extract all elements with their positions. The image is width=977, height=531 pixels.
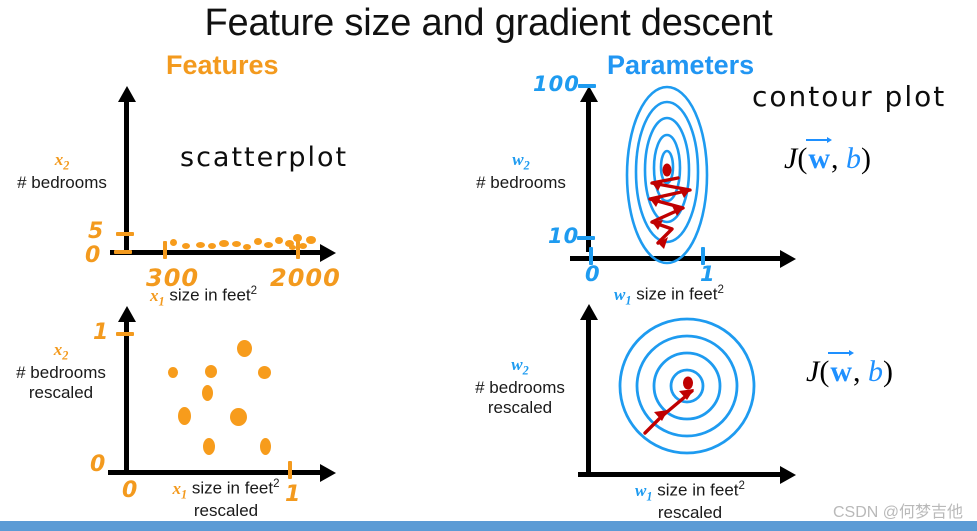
y-axis-label-text: # bedrooms	[476, 173, 566, 192]
contour-ring	[654, 353, 720, 419]
y-axis-line	[124, 100, 129, 252]
scatter-dot	[182, 243, 190, 249]
x-axis-label-text: size in feet	[657, 481, 738, 500]
cost-open-paren: (	[797, 142, 807, 175]
gradient-descent-path-zigzag	[650, 178, 690, 243]
gradient-descent-arrowheads-zigzag	[650, 181, 690, 249]
scatter-dot	[237, 340, 252, 357]
x-axis-variable: w1	[614, 285, 631, 304]
cost-function-label-bottom: J(w, b)	[806, 355, 893, 389]
scatter-dot	[275, 237, 283, 244]
contour-rings-elongated	[627, 87, 707, 263]
scatter-dot	[260, 438, 271, 455]
y-tick-5	[116, 232, 134, 236]
x-axis-arrowhead-icon	[780, 250, 796, 268]
x-axis-line	[570, 256, 782, 261]
x-axis-label-text: size in feet	[192, 479, 273, 498]
cost-comma: ,	[853, 355, 868, 388]
slide-canvas: Feature size and gradient descent Featur…	[0, 0, 977, 531]
y-axis-line	[586, 318, 591, 476]
heading-parameters: Parameters	[607, 50, 754, 81]
contour-ring	[671, 370, 703, 402]
descent-arrow-segment	[645, 412, 666, 433]
y-tick-label-10: 10	[548, 224, 579, 248]
cost-function-label-top: J(w, b)	[784, 142, 871, 176]
scatter-dot	[258, 366, 271, 379]
path-arrowhead	[672, 206, 683, 216]
y-tick-label-5: 5	[88, 219, 104, 244]
y-axis-label-text2: rescaled	[29, 383, 93, 402]
y-axis-variable: x2	[54, 340, 69, 359]
scatter-dot	[219, 240, 229, 247]
heading-features: Features	[166, 50, 279, 81]
y-axis-label-text: # bedrooms	[17, 173, 107, 192]
scatter-dot	[196, 242, 205, 248]
cost-b-symbol: b	[846, 142, 861, 175]
annotation-contour-plot: contour plot	[752, 80, 946, 113]
scatter-dot	[264, 242, 273, 248]
cost-w-vector: w	[807, 142, 831, 176]
y-axis-label: x2 # bedrooms rescaled	[4, 340, 118, 403]
footer-bar	[0, 521, 977, 531]
minimum-marker-elongated	[663, 164, 672, 177]
contour-ring	[627, 87, 707, 263]
y-axis-arrowhead-icon	[580, 304, 598, 320]
watermark: CSDN @何梦吉他	[833, 498, 963, 522]
scatter-dot	[299, 243, 307, 249]
x-axis-arrowhead-icon	[320, 464, 336, 482]
path-arrowhead	[650, 197, 661, 207]
x-axis-label: x1 size in feet2	[150, 285, 257, 308]
annotation-scatterplot: scatterplot	[180, 142, 348, 173]
y-tick-10	[577, 236, 595, 240]
contour-ring	[645, 118, 689, 222]
x-axis-label-text2: rescaled	[194, 501, 258, 520]
y-tick-label-100: 100	[533, 72, 580, 96]
cost-w-vector: w	[829, 355, 853, 389]
x-axis-label-sup: 2	[251, 285, 257, 297]
scatter-dot	[230, 408, 247, 426]
x-axis-arrowhead-icon	[780, 466, 796, 484]
path-arrowhead	[679, 188, 690, 198]
scatter-dot	[232, 241, 241, 247]
y-axis-line	[586, 100, 591, 252]
scatter-dot	[208, 243, 216, 249]
x-axis-line	[110, 250, 322, 255]
x-axis-line	[578, 472, 782, 477]
path-arrowhead	[652, 181, 663, 191]
x-axis-variable: x1	[172, 479, 187, 498]
cost-j-symbol: J	[806, 355, 819, 388]
x-tick-label-0: 0	[585, 262, 601, 286]
y-axis-line	[124, 320, 129, 472]
cost-close-paren: )	[883, 355, 893, 388]
x-axis-label-text: size in feet	[169, 286, 250, 305]
scatter-dot	[178, 407, 191, 425]
path-arrowhead	[652, 220, 663, 230]
y-axis-variable: w2	[511, 355, 528, 374]
page-title: Feature size and gradient descent	[0, 2, 977, 45]
scatter-dot	[203, 438, 215, 455]
cost-comma: ,	[831, 142, 846, 175]
x-axis-label-sup: 2	[273, 478, 279, 490]
scatter-dot	[168, 367, 178, 378]
scatter-dot	[293, 234, 302, 242]
x-tick-label-0: 0	[122, 478, 138, 503]
y-axis-variable: w2	[512, 150, 529, 169]
x-axis-arrowhead-icon	[320, 244, 336, 262]
path-arrowhead	[679, 389, 694, 400]
x-tick-label-2000: 2000	[270, 264, 341, 292]
x-axis-variable: x1	[150, 286, 165, 305]
y-tick-label-0: 0	[90, 452, 106, 477]
minimum-marker-circular	[683, 377, 693, 390]
contour-ring	[661, 151, 673, 183]
y-tick-100	[578, 84, 596, 88]
x-axis-variable: w1	[635, 481, 652, 500]
gradient-descent-arrowheads-direct	[654, 389, 694, 421]
contour-ring	[654, 135, 680, 201]
contour-ring	[637, 336, 737, 436]
scatter-dot	[205, 365, 217, 378]
scatter-dot	[202, 385, 213, 401]
x-axis-label: w1 size in feet2 rescaled	[610, 480, 770, 524]
scatter-dot	[170, 239, 177, 246]
y-axis-label-text: # bedrooms	[16, 363, 106, 382]
x-axis-label: w1 size in feet2	[614, 284, 724, 307]
path-arrowhead	[658, 237, 668, 249]
y-axis-label: w2 # bedrooms	[462, 150, 580, 193]
x-axis-label-sup: 2	[739, 480, 745, 492]
x-tick-1	[288, 461, 292, 479]
cost-b-symbol: b	[868, 355, 883, 388]
x-tick-300	[163, 241, 167, 259]
y-axis-label-text: # bedrooms	[475, 378, 565, 397]
path-arrowhead	[654, 410, 668, 421]
y-axis-variable: x2	[55, 150, 70, 169]
y-tick-label-0: 0	[85, 243, 101, 268]
contour-ring	[636, 102, 698, 242]
y-axis-arrowhead-icon	[118, 306, 136, 322]
y-axis-arrowhead-icon	[580, 86, 598, 102]
y-axis-label: w2 # bedrooms rescaled	[460, 355, 580, 418]
contour-rings-circular	[620, 319, 754, 453]
y-axis-arrowhead-icon	[118, 86, 136, 102]
gradient-descent-path-direct	[645, 391, 692, 433]
descent-arrow-segment	[661, 391, 692, 417]
x-axis-label-sup: 2	[717, 284, 723, 296]
contour-ring	[620, 319, 754, 453]
y-tick-0	[114, 250, 132, 254]
scatter-dot	[306, 236, 316, 244]
y-tick-1	[116, 332, 134, 336]
y-axis-label-text2: rescaled	[488, 398, 552, 417]
scatter-dot	[254, 238, 262, 245]
x-axis-label-text2: rescaled	[658, 503, 722, 522]
cost-close-paren: )	[861, 142, 871, 175]
y-axis-label: x2 # bedrooms	[6, 150, 118, 193]
cost-open-paren: (	[819, 355, 829, 388]
x-tick-label-1: 1	[700, 262, 716, 286]
cost-j-symbol: J	[784, 142, 797, 175]
x-axis-label-text: size in feet	[636, 285, 717, 304]
scatter-dot	[243, 244, 251, 250]
scatter-dot	[289, 245, 296, 250]
x-axis-label: x1 size in feet2 rescaled	[146, 478, 306, 522]
